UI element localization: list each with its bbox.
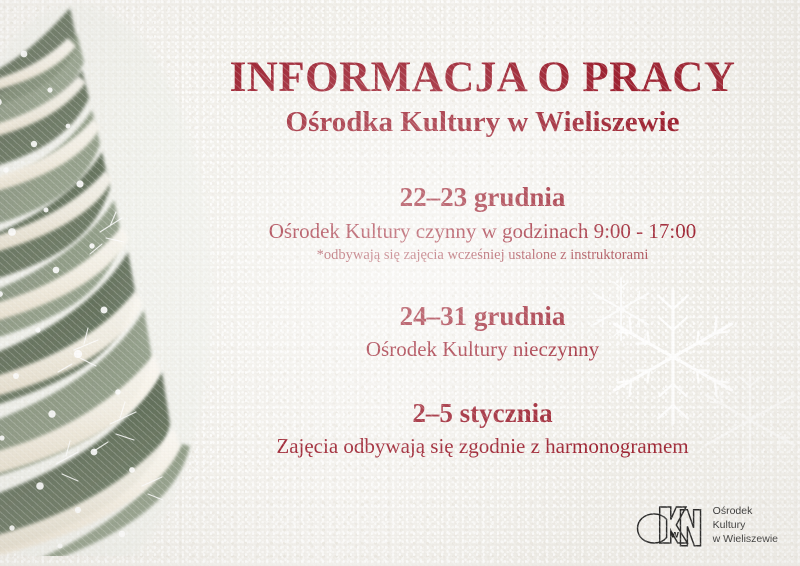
section-1-note: *odbywają się zajęcia wcześniej ustalone… — [185, 247, 780, 264]
section-1-line: Ośrodek Kultury czynny w godzinach 9:00 … — [185, 219, 780, 244]
section-3-heading: 2–5 stycznia — [185, 398, 780, 429]
section-1-heading: 22–23 grudnia — [185, 182, 780, 213]
schedule-section-2: 24–31 grudnia Ośrodek Kultury nieczynny — [185, 264, 780, 362]
logo-text-block: Ośrodek Kultury w Wieliszewie — [713, 504, 778, 547]
poster-content: INFORMACJA O PRACY Ośrodka Kultury w Wie… — [185, 0, 780, 460]
section-2-line: Ośrodek Kultury nieczynny — [185, 337, 780, 362]
page-subtitle: Ośrodka Kultury w Wieliszewie — [185, 107, 780, 139]
logo-line-3: w Wieliszewie — [713, 532, 778, 546]
page-title: INFORMACJA O PRACY — [185, 0, 780, 101]
logo-line-2: Kultury — [713, 518, 778, 532]
schedule-section-1: 22–23 grudnia Ośrodek Kultury czynny w g… — [185, 138, 780, 264]
section-2-heading: 24–31 grudnia — [185, 301, 780, 332]
schedule-section-3: 2–5 stycznia Zajęcia odbywają się zgodni… — [185, 362, 780, 459]
logo-line-1: Ośrodek — [713, 504, 778, 518]
svg-text:w: w — [669, 529, 679, 540]
okw-monogram-icon: w — [632, 500, 704, 550]
organization-logo: w Ośrodek Kultury w Wieliszewie — [632, 500, 778, 550]
section-3-line: Zajęcia odbywają się zgodnie z harmonogr… — [185, 434, 780, 459]
poster-canvas: INFORMACJA O PRACY Ośrodka Kultury w Wie… — [0, 0, 800, 566]
